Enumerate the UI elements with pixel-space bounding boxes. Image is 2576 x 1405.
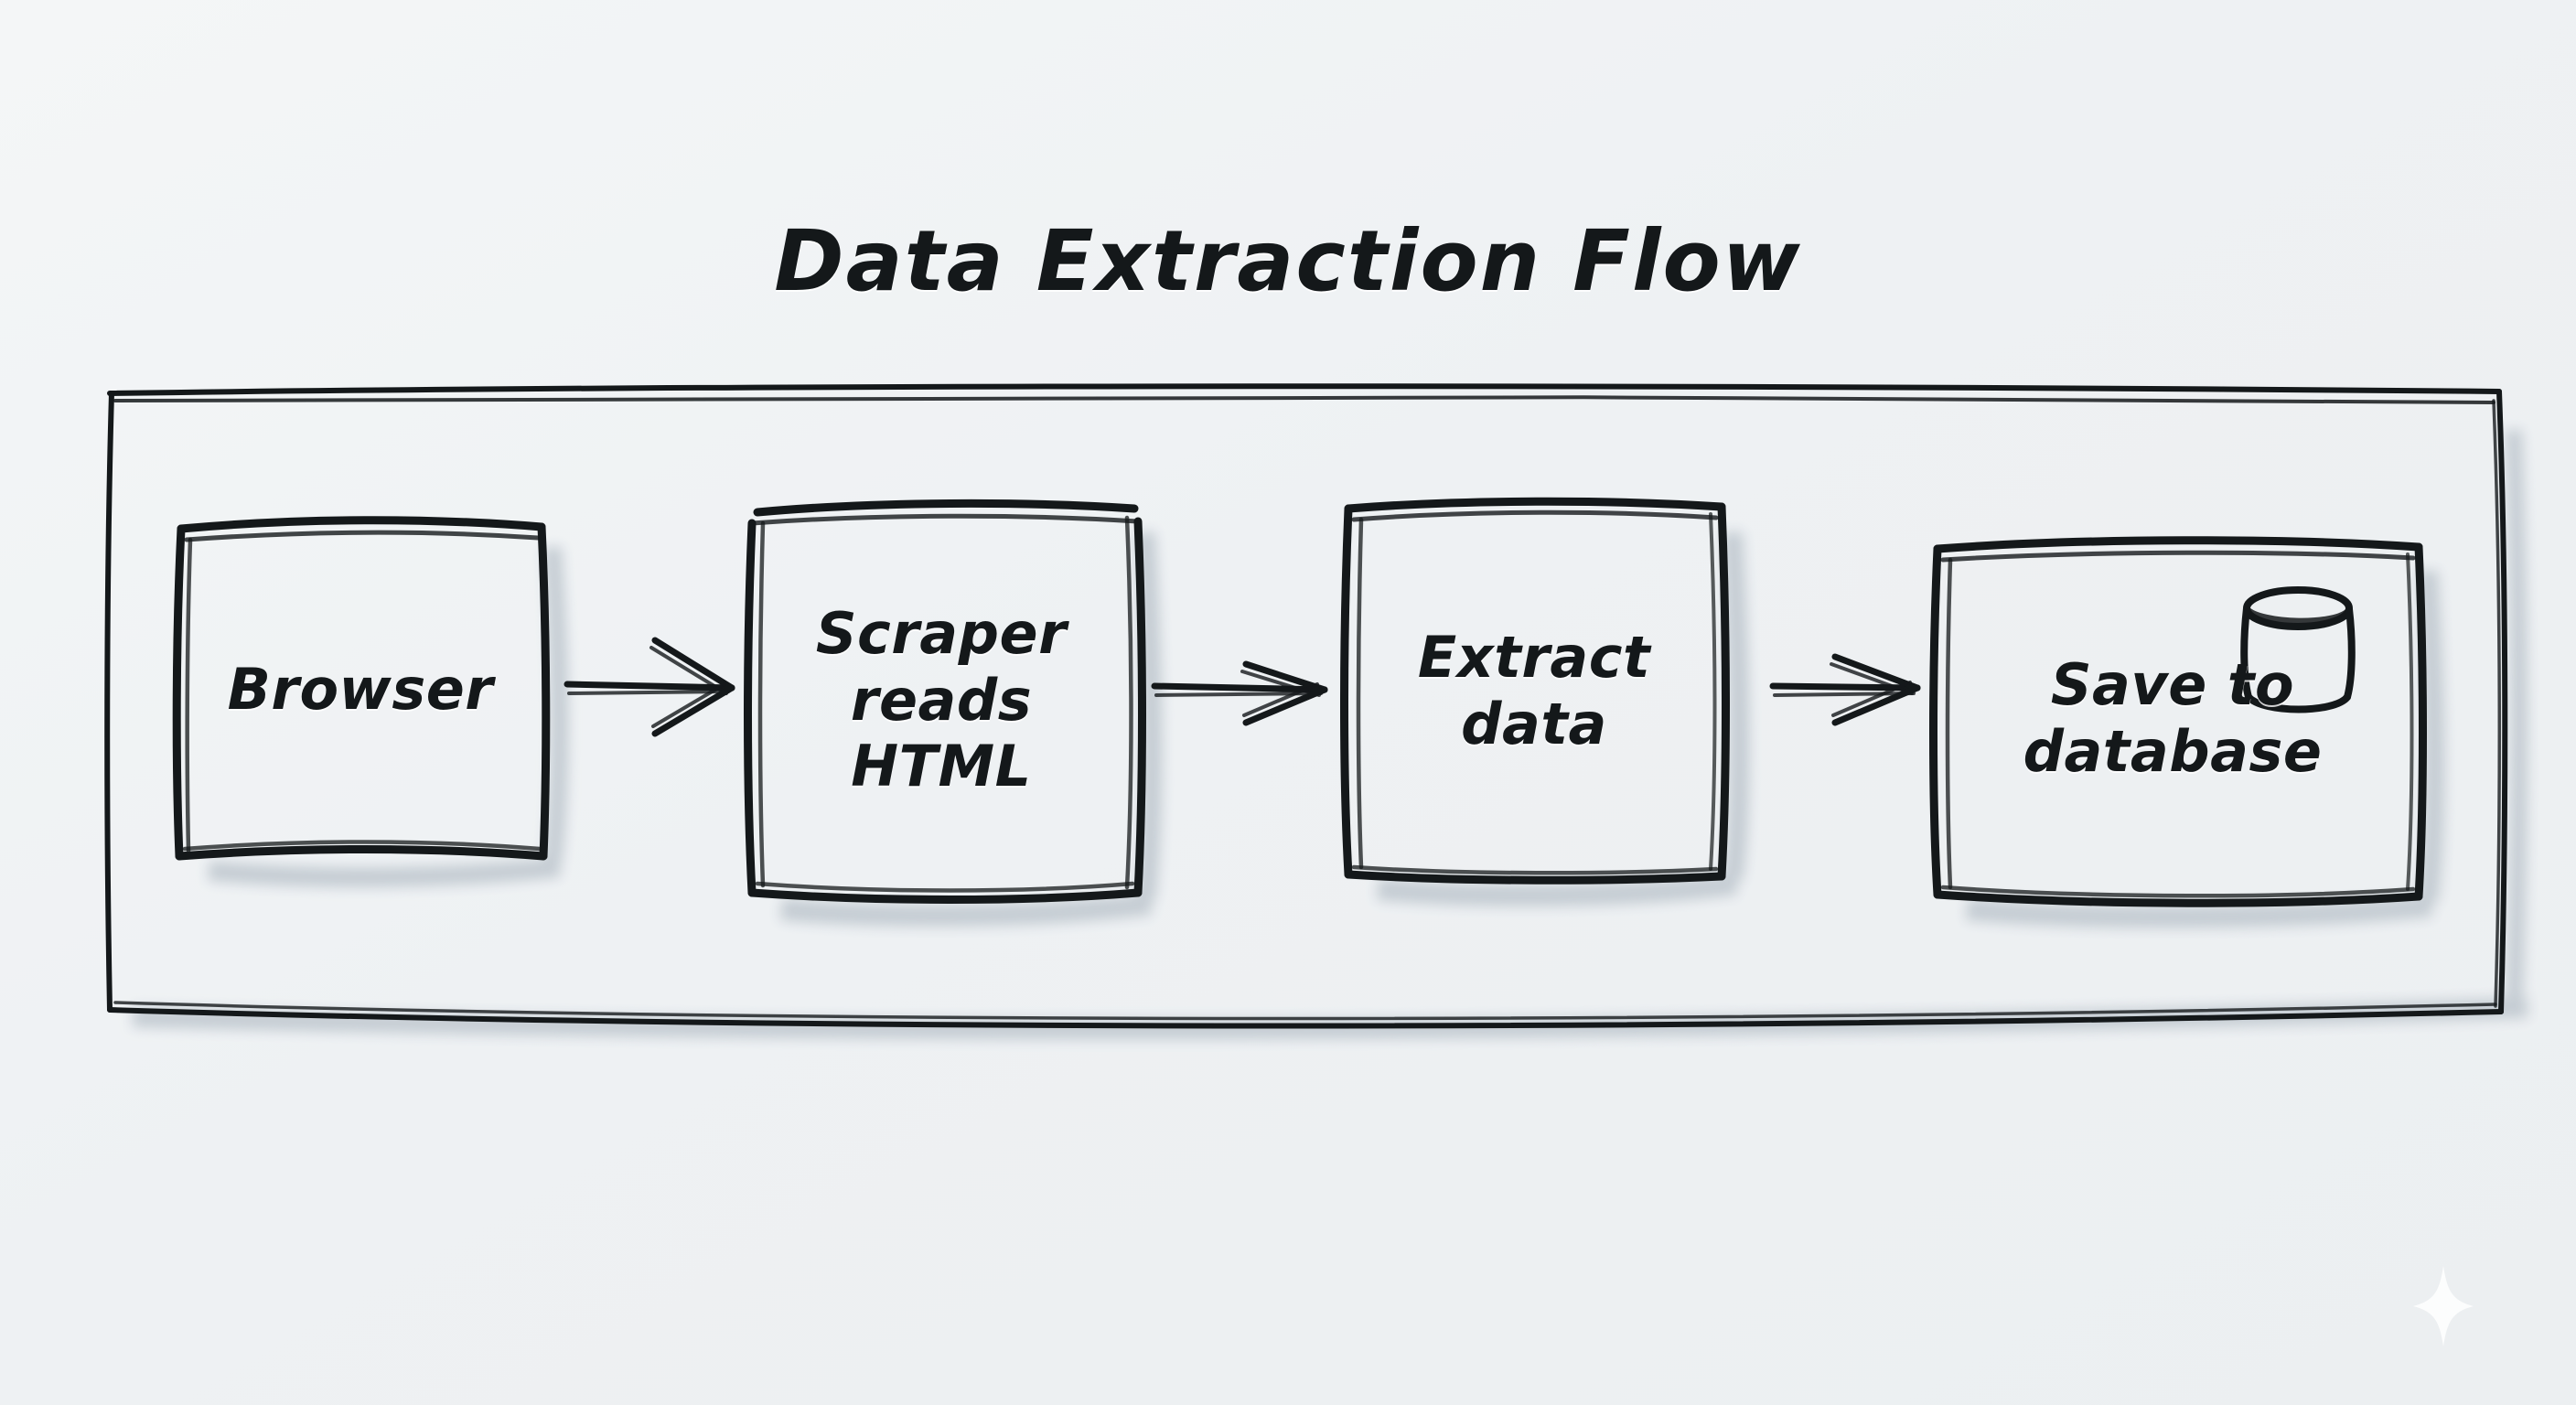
page-title: Data Extraction Flow (0, 212, 2576, 310)
node-line: Browser (228, 657, 494, 724)
node-line: data (1461, 692, 1607, 758)
node-shadow-1 (781, 904, 1151, 916)
node-line: HTML (851, 734, 1031, 800)
node-line: reads (851, 668, 1032, 735)
diagram-canvas: Data Extraction Flow (0, 0, 2576, 1405)
node-shadow-2 (1378, 884, 1736, 896)
node-shadow-3 (1967, 906, 2431, 917)
node-shadow-0r (553, 547, 560, 863)
node-shadow-3r (2428, 571, 2435, 902)
node-label-save-to-database: Save to database (1937, 545, 2417, 893)
arrow-extract-to-save (1773, 657, 1917, 723)
node-label-scraper-reads-html: Scraper reads HTML (750, 509, 1132, 893)
node-line: Scraper (816, 601, 1067, 668)
node-label-extract-data: Extract data (1347, 509, 1722, 874)
node-shadow-0 (209, 867, 560, 877)
sparkle-watermark (2411, 1264, 2475, 1348)
container-shadow (137, 1003, 2523, 1035)
node-shadow-2r (1733, 532, 1740, 880)
arrow-browser-to-scraper (567, 640, 732, 734)
node-line: Save to (2051, 652, 2303, 719)
arrow-scraper-to-extract (1154, 664, 1325, 723)
node-line: Extract (1418, 625, 1650, 692)
container-shadow-right (2514, 430, 2519, 1014)
node-shadow-1r (1145, 532, 1153, 900)
node-label-browser: Browser (179, 523, 542, 856)
node-line: database (2023, 719, 2332, 786)
